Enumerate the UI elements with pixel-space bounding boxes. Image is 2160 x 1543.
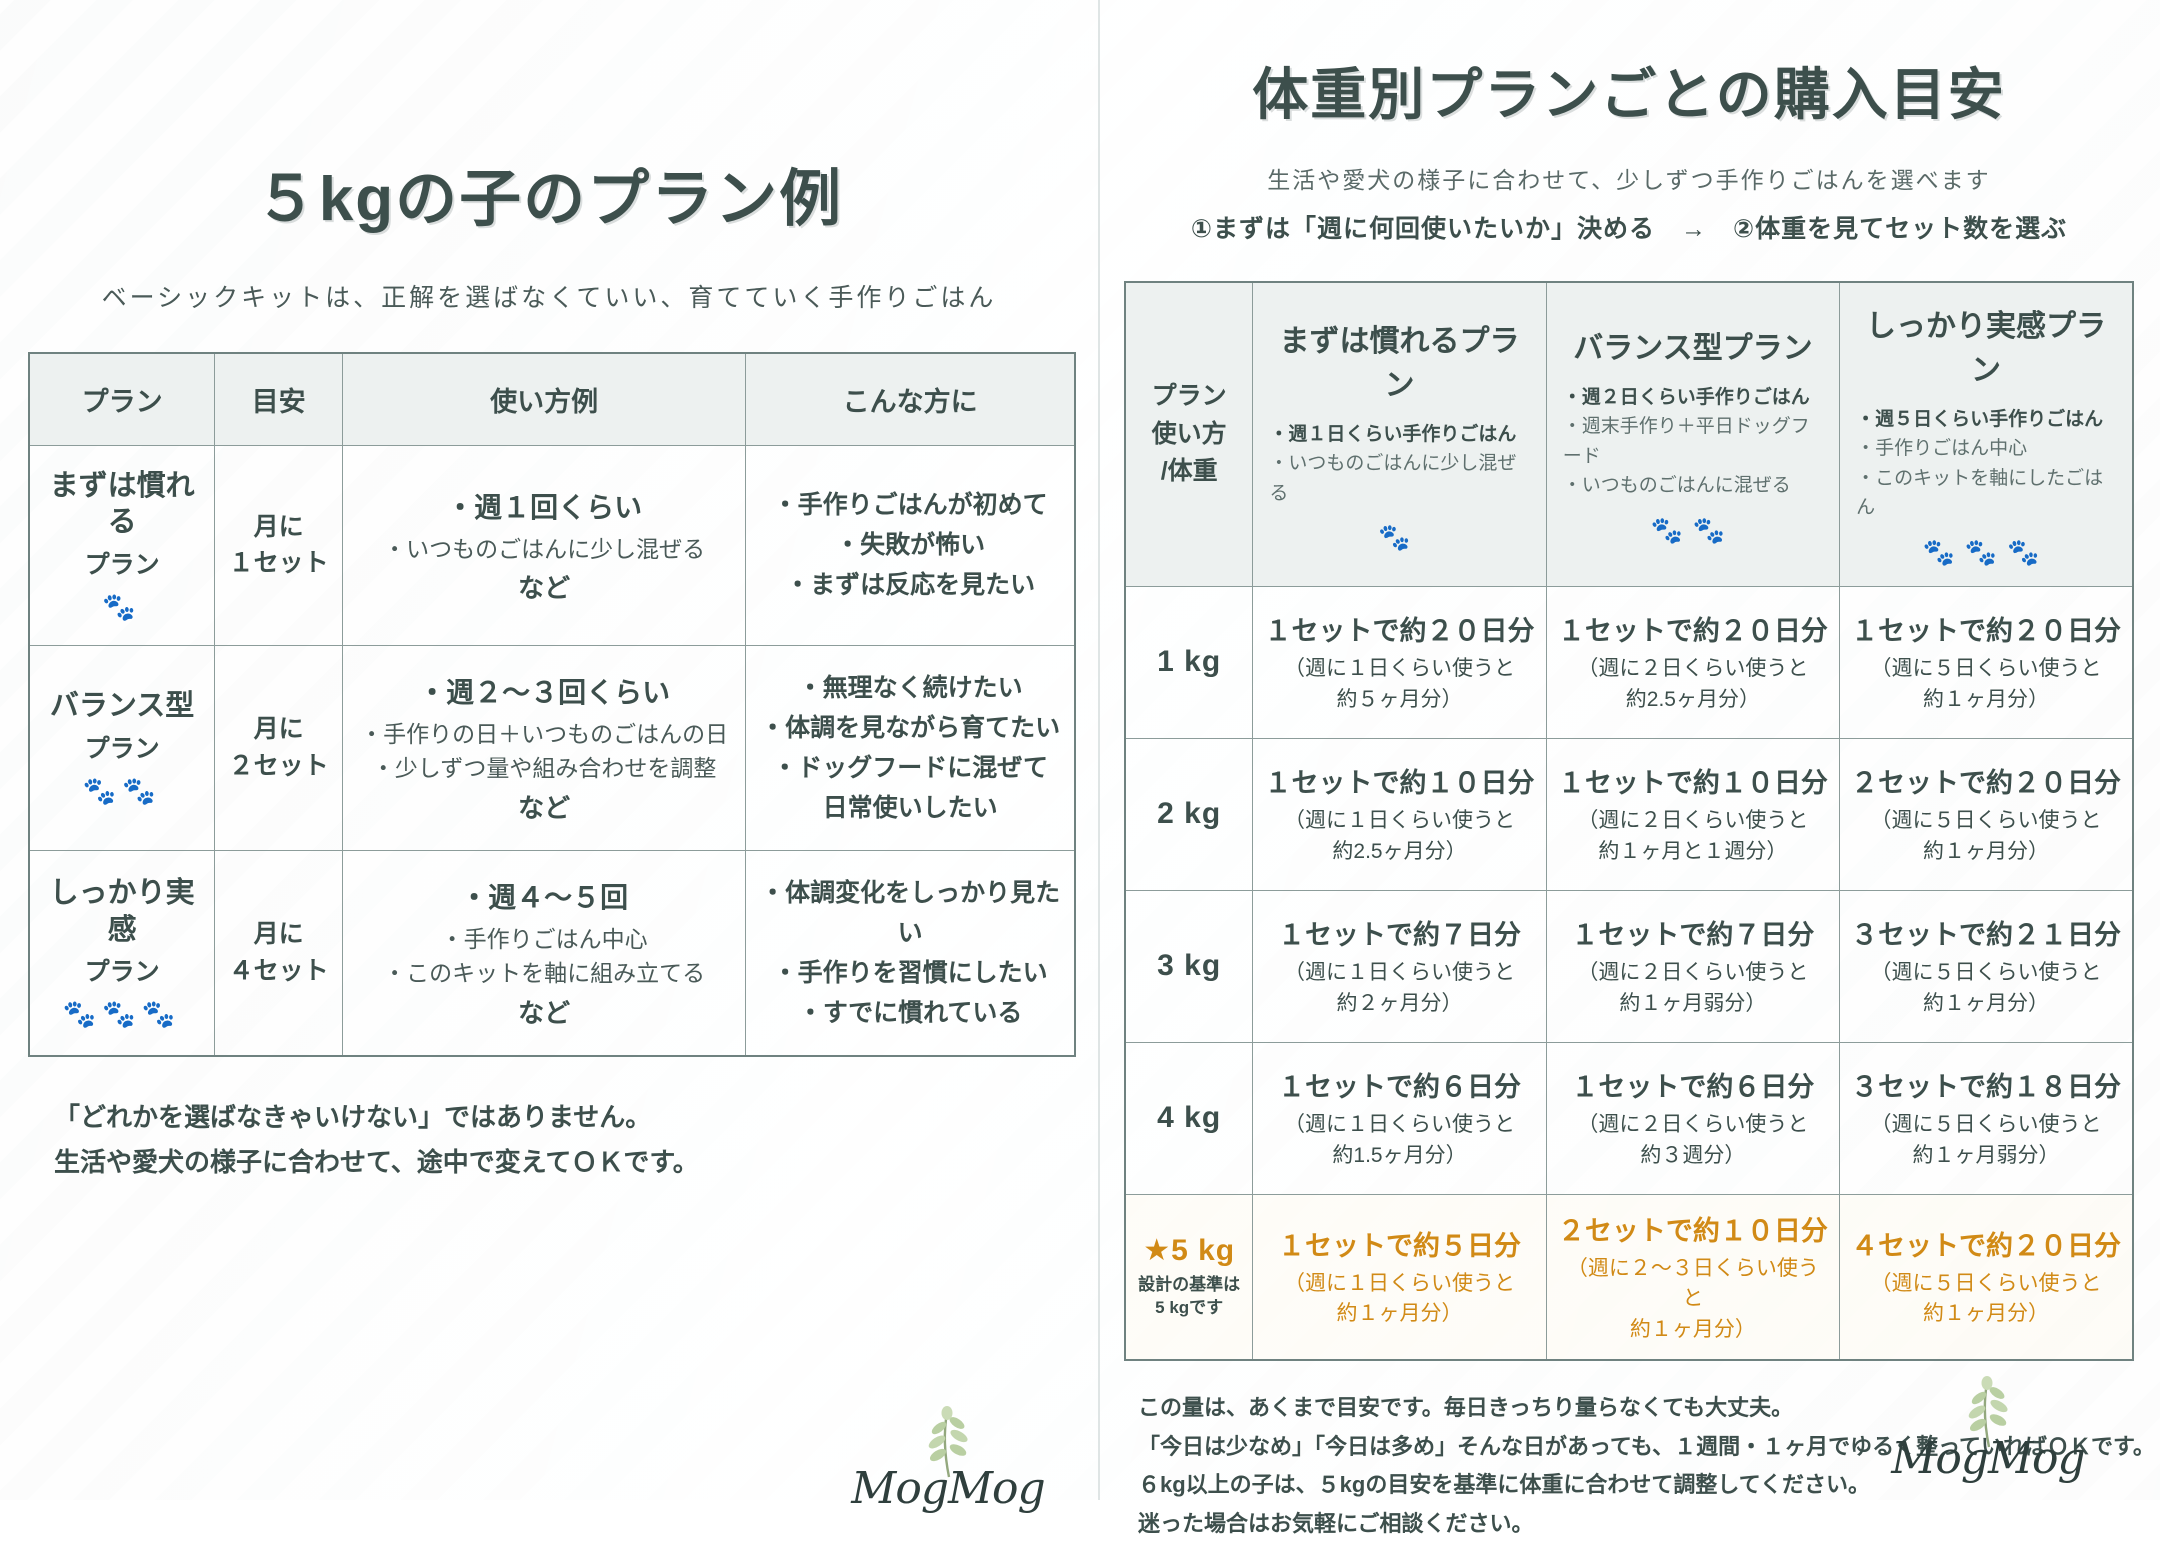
amount-main: １セットで約１０日分 — [1263, 761, 1535, 800]
plan-amount-cell: １セットで約６日分 （週に２日くらい使うと 約３週分） — [1546, 1042, 1839, 1194]
table-row: しっかり実感 プラン 🐾🐾🐾 月に ４セット ・週４〜５回 ・手作りごはん中心 … — [29, 850, 1075, 1056]
amount-main: １セットで約１０日分 — [1557, 761, 1829, 800]
table-row: 4 kg １セットで約６日分 （週に１日くらい使うと 約1.5ヶ月分） １セット… — [1125, 1042, 2133, 1194]
who-cell: ・無理なく続けたい ・体調を見ながら育てたい ・ドッグフードに混ぜて 日常使いし… — [746, 645, 1075, 850]
usage-sub: ・手作りの日＋いつものごはんの日 ・少しずつ量や組み合わせを調整 — [353, 717, 735, 786]
plan-bullet: ・手作りごはん中心 — [1856, 434, 2120, 463]
table-header-row: プラン 目安 使い方例 こんな方に — [29, 353, 1075, 446]
plan-amount-cell: １セットで約５日分 （週に１日くらい使うと 約１ヶ月分） — [1253, 1194, 1546, 1360]
plan-amount-cell: ２セットで約２０日分 （週に５日くらい使うと 約１ヶ月分） — [1840, 738, 2133, 890]
amount-sub: （週に１日くらい使うと 約１ヶ月分） — [1263, 1269, 1535, 1330]
plan-column-name: まずは慣れるプラン — [1265, 316, 1533, 404]
plan-example-table: プラン 目安 使い方例 こんな方に まずは慣れる プラン 🐾 月に １セット — [28, 352, 1076, 1057]
paw-icon: 🐾 — [1265, 522, 1533, 553]
poster-page: ５kgの子のプラン例 ベーシックキットは、正解を選ばなくていい、育てていく手作り… — [0, 0, 2160, 1500]
amount-sub: （週に５日くらい使うと 約１ヶ月分） — [1850, 958, 2122, 1019]
weight-cell: 3 kg — [1125, 890, 1253, 1042]
right-subtitle-2: ①まずは「週に何回使いたいか」決める → ②体重を見てセット数を選ぶ — [1098, 209, 2160, 245]
measure-cell: 月に ４セット — [215, 850, 343, 1056]
plan-subname: プラン — [40, 952, 204, 988]
who-text: ・手作りごはんが初めて ・失敗が怖い ・まずは反応を見たい — [756, 485, 1064, 605]
usage-main: ・週４〜５回 — [353, 876, 735, 916]
usage-etc: など — [353, 568, 735, 605]
plan-amount-cell: １セットで約１０日分 （週に１日くらい使うと 約2.5ヶ月分） — [1253, 738, 1546, 890]
weight-cell: 4 kg — [1125, 1042, 1253, 1194]
amount-main: １セットで約６日分 — [1557, 1065, 1829, 1104]
plan-bullet: ・いつものごはんに混ぜる — [1563, 471, 1827, 500]
amount-main: １セットで約２０日分 — [1557, 609, 1829, 648]
brand-logo: MogMog — [838, 1405, 1058, 1514]
paw-icon: 🐾🐾🐾 — [40, 998, 204, 1030]
plan-cell: しっかり実感 プラン 🐾🐾🐾 — [29, 850, 215, 1056]
plan-column-name: バランス型プラン — [1559, 323, 1827, 367]
plan-example-table-head: プラン 目安 使い方例 こんな方に — [29, 353, 1075, 446]
brand-logo: MogMog — [1878, 1375, 2098, 1484]
plan-amount-cell: ３セットで約２１日分 （週に５日くらい使うと 約１ヶ月分） — [1840, 890, 2133, 1042]
plan-bullet: ・週末手作り＋平日ドッグフード — [1563, 412, 1827, 471]
plan-subname: プラン — [40, 729, 204, 765]
plan-bullet: ・週１日くらい手作りごはん — [1269, 420, 1533, 449]
plan-amount-cell: ４セットで約２０日分 （週に５日くらい使うと 約１ヶ月分） — [1840, 1194, 2133, 1360]
table-row: まずは慣れる プラン 🐾 月に １セット ・週１回くらい ・いつものごはんに少し… — [29, 446, 1075, 646]
right-subtitle-1: 生活や愛犬の様子に合わせて、少しずつ手作りごはんを選べます — [1098, 161, 2160, 195]
who-cell: ・体調変化をしっかり見たい ・手作りを習慣にしたい ・すでに慣れている — [746, 850, 1075, 1056]
measure-text: 月に １セット — [225, 509, 332, 582]
plan-bullet: ・週５日くらい手作りごはん — [1856, 405, 2120, 434]
amount-sub: （週に１日くらい使うと 約５ヶ月分） — [1263, 654, 1535, 715]
plan-amount-cell: １セットで約２０日分 （週に２日くらい使うと 約2.5ヶ月分） — [1546, 586, 1839, 738]
amount-main: ４セットで約２０日分 — [1850, 1224, 2122, 1263]
amount-sub: （週に５日くらい使うと 約１ヶ月分） — [1850, 806, 2122, 867]
amount-sub: （週に２日くらい使うと 約2.5ヶ月分） — [1557, 654, 1829, 715]
left-title: ５kgの子のプラン例 — [28, 148, 1070, 238]
brand-logo-text: MogMog — [838, 1463, 1058, 1514]
table-header-row: プラン 使い方 /体重 まずは慣れるプラン ・週１日くらい手作りごはん ・いつも… — [1125, 282, 2133, 586]
paw-icon: 🐾🐾🐾 — [1852, 537, 2120, 568]
column-header-measure: 目安 — [215, 353, 343, 446]
panel-divider — [1098, 0, 1100, 1500]
plan-bullet: ・いつものごはんに少し混ぜる — [1269, 449, 1533, 508]
left-subtitle: ベーシックキットは、正解を選ばなくていい、育てていく手作りごはん — [28, 278, 1070, 314]
right-title: 体重別プランごとの購入目安 — [1098, 50, 2160, 131]
plan-amount-cell: １セットで約２０日分 （週に５日くらい使うと 約１ヶ月分） — [1840, 586, 2133, 738]
weight-plan-table-body: 1 kg １セットで約２０日分 （週に１日くらい使うと 約５ヶ月分） １セットで… — [1125, 586, 2133, 1360]
usage-cell: ・週２〜３回くらい ・手作りの日＋いつものごはんの日 ・少しずつ量や組み合わせを… — [342, 645, 745, 850]
weight-cell: 2 kg — [1125, 738, 1253, 890]
amount-main: ２セットで約１０日分 — [1557, 1209, 1829, 1248]
weight-label: 4 kg — [1136, 1101, 1242, 1135]
plan-amount-cell: １セットで約２０日分 （週に１日くらい使うと 約５ヶ月分） — [1253, 586, 1546, 738]
plan-bullet: ・このキットを軸にしたごはん — [1856, 464, 2120, 523]
plan-amount-cell: １セットで約１０日分 （週に２日くらい使うと 約１ヶ月と１週分） — [1546, 738, 1839, 890]
weight-cell: 1 kg — [1125, 586, 1253, 738]
weight-note: 設計の基準は 5 kgです — [1136, 1274, 1242, 1320]
amount-sub: （週に５日くらい使うと 約１ヶ月弱分） — [1850, 1110, 2122, 1171]
paw-icon: 🐾 — [40, 591, 204, 623]
who-cell: ・手作りごはんが初めて ・失敗が怖い ・まずは反応を見たい — [746, 446, 1075, 646]
amount-sub: （週に５日くらい使うと 約１ヶ月分） — [1850, 654, 2122, 715]
plan-bullet: ・週２日くらい手作りごはん — [1563, 383, 1827, 412]
table-row: バランス型 プラン 🐾🐾 月に ２セット ・週２〜３回くらい ・手作りの日＋いつ… — [29, 645, 1075, 850]
table-row: 3 kg １セットで約７日分 （週に１日くらい使うと 約２ヶ月分） １セットで約… — [1125, 890, 2133, 1042]
amount-sub: （週に２〜３日くらい使うと 約１ヶ月分） — [1557, 1254, 1829, 1345]
usage-main: ・週１回くらい — [353, 486, 735, 526]
amount-main: １セットで約６日分 — [1263, 1065, 1535, 1104]
paw-icon: 🐾🐾 — [1559, 515, 1827, 546]
amount-main: １セットで約５日分 — [1263, 1224, 1535, 1263]
amount-main: ２セットで約２０日分 — [1850, 761, 2122, 800]
weight-cell: ★5 kg 設計の基準は 5 kgです — [1125, 1194, 1253, 1360]
plan-amount-cell: ２セットで約１０日分 （週に２〜３日くらい使うと 約１ヶ月分） — [1546, 1194, 1839, 1360]
measure-cell: 月に ２セット — [215, 645, 343, 850]
usage-sub: ・手作りごはん中心 ・このキットを軸に組み立てる — [353, 922, 735, 991]
amount-sub: （週に２日くらい使うと 約１ヶ月と１週分） — [1557, 806, 1829, 867]
amount-main: １セットで約２０日分 — [1263, 609, 1535, 648]
weight-label: ★5 kg — [1136, 1233, 1242, 1268]
usage-etc: など — [353, 993, 735, 1030]
plan-amount-cell: １セットで約７日分 （週に２日くらい使うと 約１ヶ月弱分） — [1546, 890, 1839, 1042]
usage-etc: など — [353, 788, 735, 825]
amount-main: １セットで約７日分 — [1557, 913, 1829, 952]
table-row-highlighted: ★5 kg 設計の基準は 5 kgです １セットで約５日分 （週に１日くらい使う… — [1125, 1194, 2133, 1360]
plan-column-bullets: ・週１日くらい手作りごはん ・いつものごはんに少し混ぜる — [1265, 420, 1533, 508]
corner-header-label: プラン 使い方 /体重 — [1138, 378, 1240, 491]
paw-icon: 🐾🐾 — [40, 775, 204, 807]
usage-cell: ・週１回くらい ・いつものごはんに少し混ぜる など — [342, 446, 745, 646]
plan-cell: まずは慣れる プラン 🐾 — [29, 446, 215, 646]
plan-amount-cell: ３セットで約１８日分 （週に５日くらい使うと 約１ヶ月弱分） — [1840, 1042, 2133, 1194]
plan-column-name: しっかり実感プラン — [1852, 301, 2120, 389]
who-text: ・体調変化をしっかり見たい ・手作りを習慣にしたい ・すでに慣れている — [756, 873, 1064, 1033]
column-header-plan-3: しっかり実感プラン ・週５日くらい手作りごはん ・手作りごはん中心 ・このキット… — [1840, 282, 2133, 586]
usage-sub: ・いつものごはんに少し混ぜる — [353, 532, 735, 567]
brand-logo-text: MogMog — [1878, 1433, 2098, 1484]
amount-main: １セットで約７日分 — [1263, 913, 1535, 952]
table-row: 2 kg １セットで約１０日分 （週に１日くらい使うと 約2.5ヶ月分） １セッ… — [1125, 738, 2133, 890]
plan-name: まずは慣れる — [40, 468, 204, 541]
column-header-plan: プラン — [29, 353, 215, 446]
amount-main: ３セットで約１８日分 — [1850, 1065, 2122, 1104]
weight-plan-table: プラン 使い方 /体重 まずは慣れるプラン ・週１日くらい手作りごはん ・いつも… — [1124, 281, 2134, 1361]
who-text: ・無理なく続けたい ・体調を見ながら育てたい ・ドッグフードに混ぜて 日常使いし… — [756, 668, 1064, 828]
weight-plan-table-head: プラン 使い方 /体重 まずは慣れるプラン ・週１日くらい手作りごはん ・いつも… — [1125, 282, 2133, 586]
left-panel: ５kgの子のプラン例 ベーシックキットは、正解を選ばなくていい、育てていく手作り… — [0, 0, 1098, 1500]
table-row: 1 kg １セットで約２０日分 （週に１日くらい使うと 約５ヶ月分） １セットで… — [1125, 586, 2133, 738]
usage-cell: ・週４〜５回 ・手作りごはん中心 ・このキットを軸に組み立てる など — [342, 850, 745, 1056]
plan-cell: バランス型 プラン 🐾🐾 — [29, 645, 215, 850]
amount-sub: （週に２日くらい使うと 約３週分） — [1557, 1110, 1829, 1171]
weight-label: 3 kg — [1136, 949, 1242, 983]
measure-cell: 月に １セット — [215, 446, 343, 646]
corner-header: プラン 使い方 /体重 — [1125, 282, 1253, 586]
column-header-usage: 使い方例 — [342, 353, 745, 446]
weight-label: 1 kg — [1136, 645, 1242, 679]
weight-label: 2 kg — [1136, 797, 1242, 831]
plan-subname: プラン — [40, 545, 204, 581]
plan-example-table-body: まずは慣れる プラン 🐾 月に １セット ・週１回くらい ・いつものごはんに少し… — [29, 446, 1075, 1056]
plan-name: しっかり実感 — [40, 875, 204, 948]
amount-sub: （週に５日くらい使うと 約１ヶ月分） — [1850, 1269, 2122, 1330]
column-header-plan-2: バランス型プラン ・週２日くらい手作りごはん ・週末手作り＋平日ドッグフード ・… — [1546, 282, 1839, 586]
plan-column-bullets: ・週５日くらい手作りごはん ・手作りごはん中心 ・このキットを軸にしたごはん — [1852, 405, 2120, 523]
column-header-plan-1: まずは慣れるプラン ・週１日くらい手作りごはん ・いつものごはんに少し混ぜる 🐾 — [1253, 282, 1546, 586]
plan-amount-cell: １セットで約６日分 （週に１日くらい使うと 約1.5ヶ月分） — [1253, 1042, 1546, 1194]
plan-column-bullets: ・週２日くらい手作りごはん ・週末手作り＋平日ドッグフード ・いつものごはんに混… — [1559, 383, 1827, 501]
amount-sub: （週に１日くらい使うと 約2.5ヶ月分） — [1263, 806, 1535, 867]
amount-sub: （週に２日くらい使うと 約１ヶ月弱分） — [1557, 958, 1829, 1019]
amount-sub: （週に１日くらい使うと 約1.5ヶ月分） — [1263, 1110, 1535, 1171]
amount-main: １セットで約２０日分 — [1850, 609, 2122, 648]
measure-text: 月に ４セット — [225, 916, 332, 989]
left-footnote: 「どれかを選ばなきゃいけない」ではありません。 生活や愛犬の様子に合わせて、途中… — [54, 1095, 1070, 1186]
amount-main: ３セットで約２１日分 — [1850, 913, 2122, 952]
plan-amount-cell: １セットで約７日分 （週に１日くらい使うと 約２ヶ月分） — [1253, 890, 1546, 1042]
usage-main: ・週２〜３回くらい — [353, 671, 735, 711]
right-panel: 体重別プランごとの購入目安 生活や愛犬の様子に合わせて、少しずつ手作りごはんを選… — [1098, 0, 2160, 1500]
column-header-who: こんな方に — [746, 353, 1075, 446]
amount-sub: （週に１日くらい使うと 約２ヶ月分） — [1263, 958, 1535, 1019]
plan-name: バランス型 — [40, 688, 204, 724]
measure-text: 月に ２セット — [225, 711, 332, 784]
